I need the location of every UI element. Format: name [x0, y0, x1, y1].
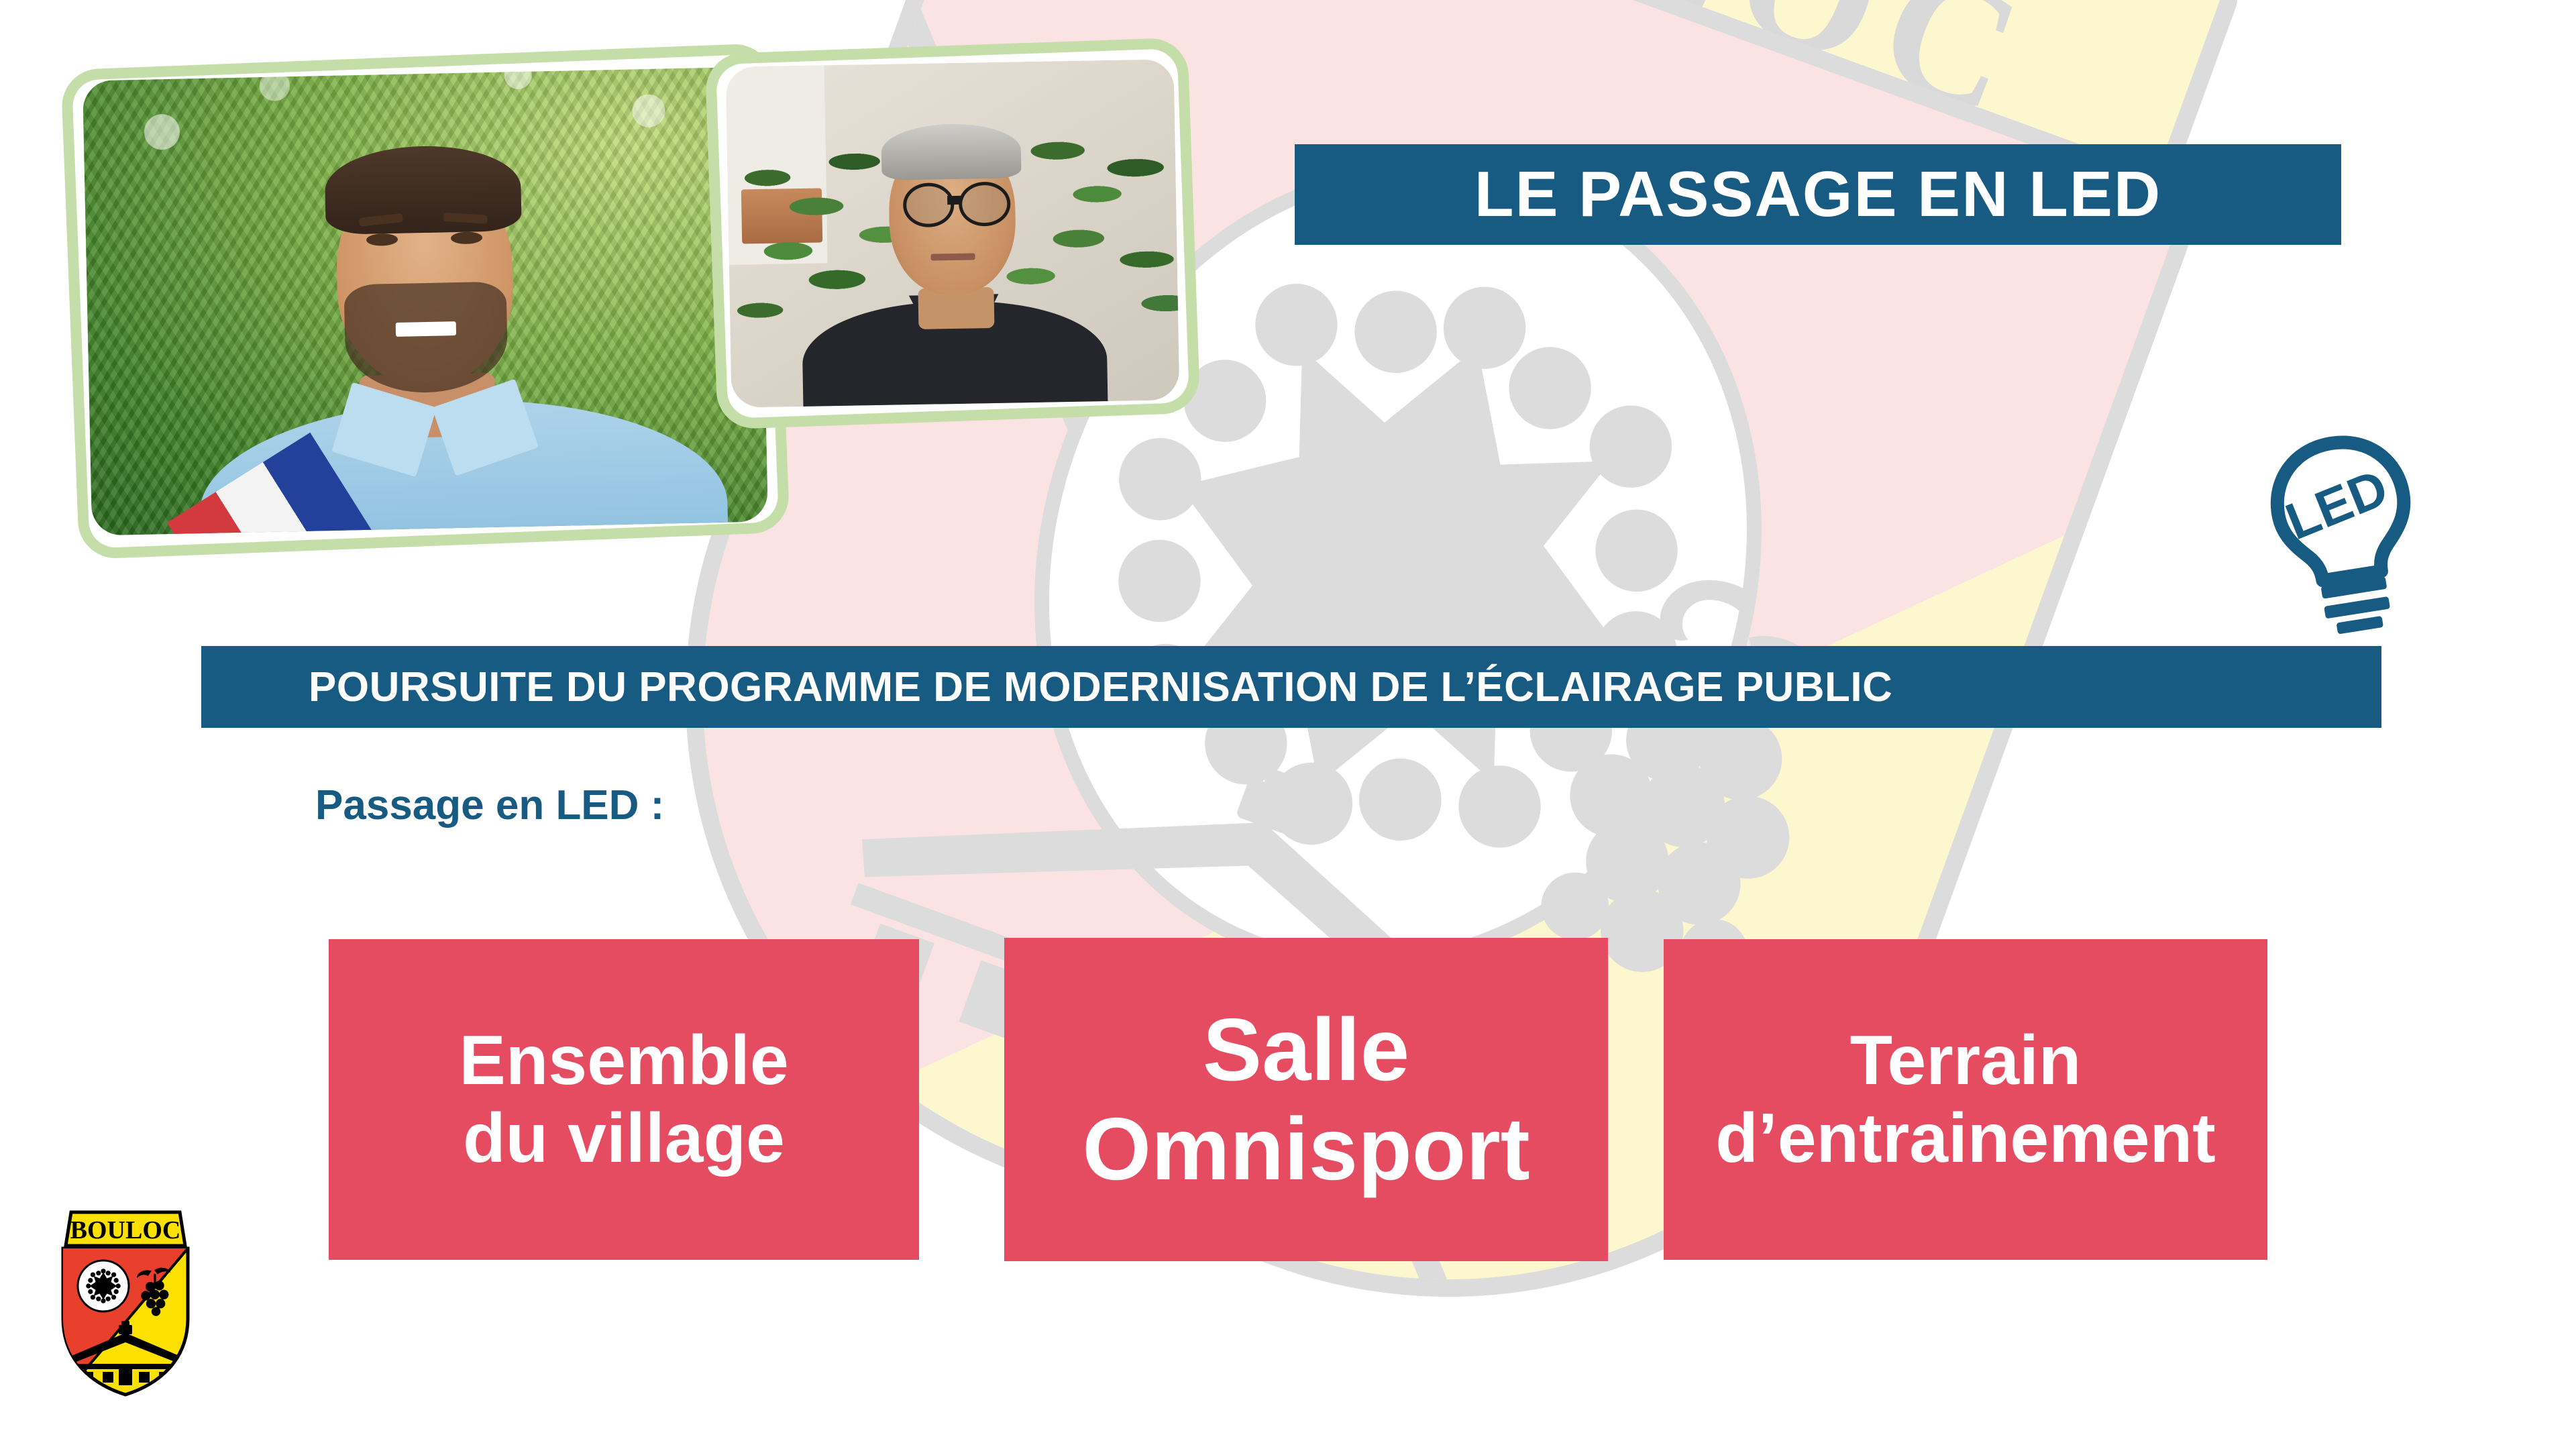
card-3-label: Terrain d’entrainement: [1699, 1022, 2231, 1178]
card-2-line1: Salle: [1203, 1000, 1409, 1099]
card-3-line1: Terrain: [1850, 1022, 2082, 1099]
card-2-label: Salle Omnisport: [1066, 1000, 1546, 1199]
cards-group: Ensemble du village Salle Omnisport Terr…: [0, 0, 2576, 1449]
card-salle-omnisport[interactable]: Salle Omnisport: [1004, 938, 1608, 1261]
card-3-line2: d’entrainement: [1715, 1099, 2215, 1177]
card-1-line1: Ensemble: [459, 1022, 788, 1099]
card-1-line2: du village: [463, 1099, 785, 1177]
card-2-line2: Omnisport: [1082, 1099, 1529, 1198]
card-terrain-dentrainement[interactable]: Terrain d’entrainement: [1664, 939, 2267, 1260]
coat-of-arms-banner-text: BOULOC: [70, 1216, 181, 1244]
bouloc-coat-of-arms: BOULOC: [42, 1204, 209, 1399]
card-ensemble-du-village[interactable]: Ensemble du village: [329, 939, 919, 1260]
card-1-label: Ensemble du village: [443, 1022, 804, 1178]
